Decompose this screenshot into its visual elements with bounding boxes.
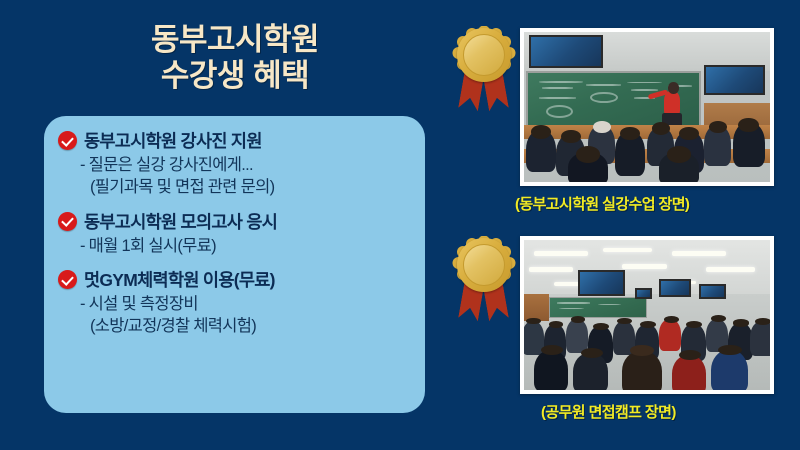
benefit-detail-3-1: - 시설 및 측정장비	[58, 294, 411, 316]
benefit-heading-1: 동부고시학원 강사진 지원	[58, 128, 411, 153]
instructor-torso	[664, 91, 680, 115]
ceiling-monitor-right	[704, 65, 766, 95]
award-medal-icon	[452, 236, 516, 322]
audience-crowd	[524, 306, 770, 390]
benefit-heading-3: 멋GYM체력학원 이용(무료)	[58, 267, 411, 292]
medal-inner-ring	[463, 244, 505, 286]
benefits-panel: 동부고시학원 강사진 지원 - 질문은 실강 강사진에게... (필기과목 및 …	[44, 116, 425, 413]
classroom-lecture-photo	[520, 28, 774, 186]
interview-camp-photo	[520, 236, 774, 394]
instructor-head	[668, 82, 679, 93]
benefit-detail-3-2: (소방/교정/경찰 체력시험)	[58, 316, 411, 338]
benefit-heading-2: 동부고시학원 모의고사 응시	[58, 209, 411, 234]
benefit-detail-1-1: - 질문은 실강 강사진에게...	[58, 155, 411, 177]
medal-inner-ring	[463, 34, 505, 76]
benefit-item-3: 멋GYM체력학원 이용(무료) - 시설 및 측정장비 (소방/교정/경찰 체력…	[58, 267, 411, 338]
benefit-detail-2-1: - 매월 1회 실시(무료)	[58, 236, 411, 258]
benefit-item-2: 동부고시학원 모의고사 응시 - 매월 1회 실시(무료)	[58, 209, 411, 258]
projector-monitor-center	[659, 279, 691, 297]
photo-image-lecture-hall	[524, 240, 770, 390]
check-circle-icon	[58, 270, 77, 289]
title-line-2: 수강생 혜택	[40, 58, 430, 94]
check-circle-icon	[58, 212, 77, 231]
title-line-1: 동부고시학원	[40, 22, 430, 58]
ceiling-monitor-left	[529, 35, 603, 68]
page-title: 동부고시학원 수강생 혜택	[40, 22, 430, 94]
check-circle-icon	[58, 131, 77, 150]
benefit-title-1: 동부고시학원 강사진 지원	[84, 128, 262, 153]
photo-caption-top: (동부고시학원 실강수업 장면)	[515, 193, 689, 214]
award-medal-icon	[452, 26, 516, 112]
photo-image-classroom	[524, 32, 770, 182]
benefit-detail-1-2: (필기과목 및 면접 관련 문의)	[58, 177, 411, 199]
benefit-title-2: 동부고시학원 모의고사 응시	[84, 209, 277, 234]
benefit-title-3: 멋GYM체력학원 이용(무료)	[84, 267, 275, 292]
benefit-item-1: 동부고시학원 강사진 지원 - 질문은 실강 강사진에게... (필기과목 및 …	[58, 128, 411, 199]
projector-monitor-small	[635, 288, 652, 299]
projector-monitor-main	[578, 270, 625, 296]
projector-monitor-right	[699, 284, 726, 299]
photo-caption-bottom: (공무원 면접캠프 장면)	[541, 401, 676, 422]
promo-slide: 동부고시학원 수강생 혜택 동부고시학원 강사진 지원 - 질문은 실강 강사진…	[0, 0, 800, 450]
